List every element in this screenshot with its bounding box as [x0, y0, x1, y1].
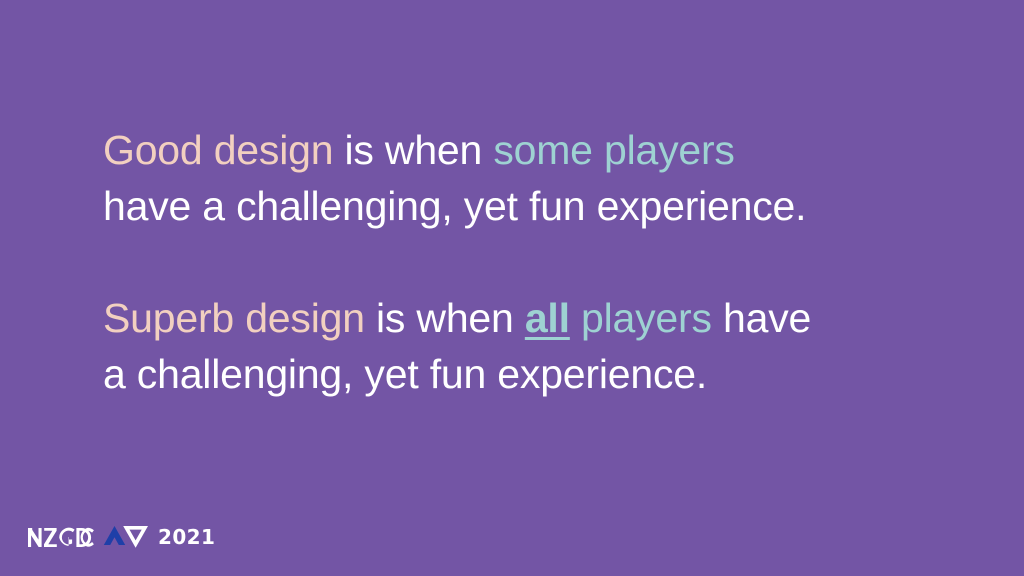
nzgdc-chevron-mark-glyph: [103, 524, 149, 550]
text-run-good-design-accent: Good design: [103, 127, 333, 173]
slide-body-text: Good design is when some players have a …: [103, 122, 933, 402]
text-run-good-design-highlight: some players: [493, 127, 734, 173]
nzgdc-wordmark: [28, 527, 94, 548]
paragraph-superb-design: Superb design is when all players have a…: [103, 290, 933, 402]
text-run-superb-design-highlight: players: [570, 295, 712, 341]
text-run-good-design-tail: have a challenging, yet fun experience.: [103, 183, 806, 229]
slide-footer-logo: 2021: [28, 524, 215, 550]
paragraph-good-design: Good design is when some players have a …: [103, 122, 933, 234]
text-run-superb-design-accent: Superb design: [103, 295, 365, 341]
text-run-superb-design-emphasis: all: [525, 295, 570, 341]
nzgdc-year-label: 2021: [158, 527, 215, 547]
nzgdc-wordmark-glyphs: [28, 527, 94, 548]
nzgdc-chevron-mark-icon: [103, 524, 149, 550]
text-run-good-design-connector: is when: [333, 127, 493, 173]
slide-canvas: Good design is when some players have a …: [0, 0, 1024, 576]
text-run-superb-design-connector: is when: [365, 295, 525, 341]
